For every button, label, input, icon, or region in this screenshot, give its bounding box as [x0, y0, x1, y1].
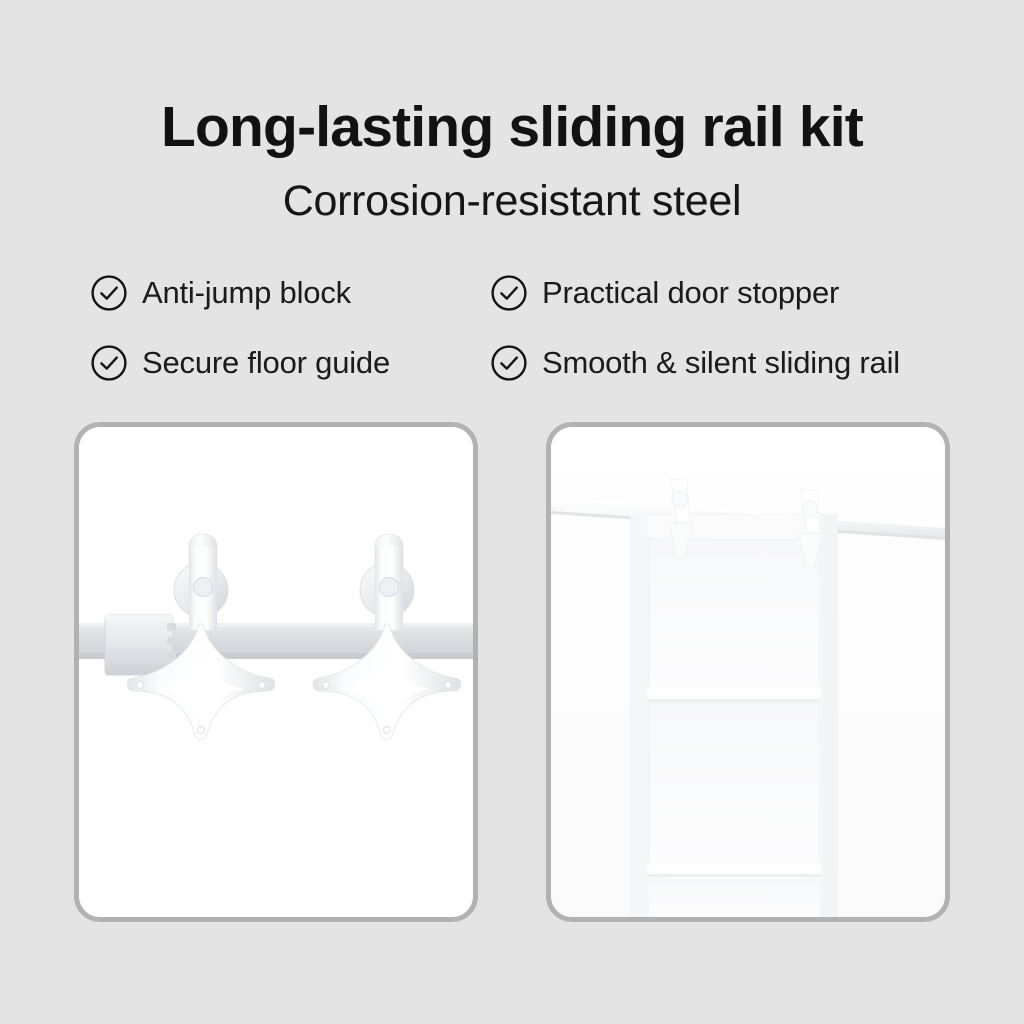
feature-list: Anti-jump block Practical door stopper S…	[90, 258, 970, 398]
door-stopper-block	[105, 615, 176, 675]
installed-door-illustration	[551, 427, 945, 917]
feature-item-smooth-silent-sliding-rail: Smooth & silent sliding rail	[490, 328, 970, 398]
feature-item-secure-floor-guide: Secure floor guide	[90, 328, 490, 398]
feature-item-anti-jump-block: Anti-jump block	[90, 258, 490, 328]
feature-item-practical-door-stopper: Practical door stopper	[490, 258, 970, 328]
feature-label: Secure floor guide	[142, 344, 390, 382]
sliding-rail-hardware-photo	[74, 422, 478, 922]
check-circle-icon	[90, 344, 128, 382]
installed-barn-door-photo	[546, 422, 950, 922]
feature-label: Anti-jump block	[142, 274, 351, 312]
feature-label: Practical door stopper	[542, 274, 839, 312]
check-circle-icon	[490, 274, 528, 312]
page-title: Long-lasting sliding rail kit	[0, 92, 1024, 162]
check-circle-icon	[490, 344, 528, 382]
feature-label: Smooth & silent sliding rail	[542, 344, 900, 382]
hardware-illustration	[79, 427, 473, 917]
product-feature-card: Long-lasting sliding rail kit Corrosion-…	[0, 0, 1024, 1024]
page-subtitle: Corrosion-resistant steel	[0, 174, 1024, 228]
door-slab	[631, 515, 837, 917]
check-circle-icon	[90, 274, 128, 312]
